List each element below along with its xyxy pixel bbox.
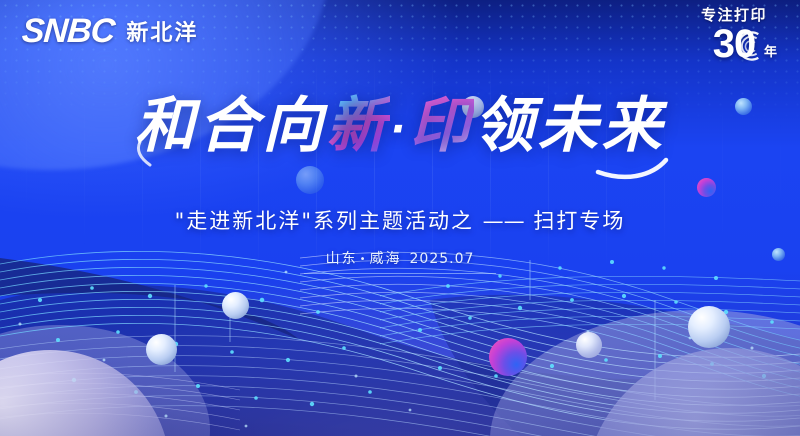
event-banner: SNBC 新北洋 专注打印 30 年 和合向新·印领未来 "走进新北洋"系列主题… (0, 0, 800, 436)
vignette-overlay (0, 0, 800, 436)
